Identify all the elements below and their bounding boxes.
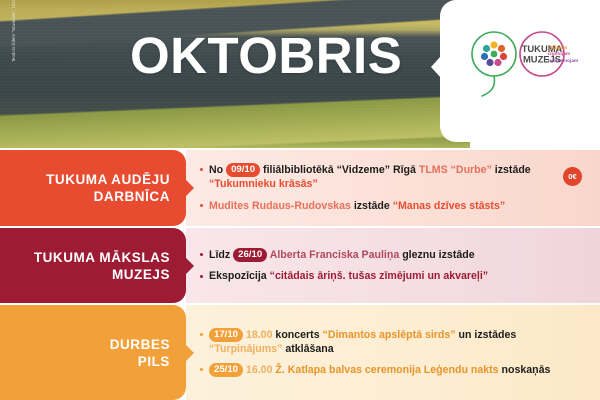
bullet-dot-icon <box>200 168 203 171</box>
page-title: OKTOBRIS <box>130 30 402 81</box>
list-item: No 09/10 filiālbibliotēkā “Vidzeme” Rīgā… <box>200 163 588 192</box>
event-conjunction: un izstādes <box>456 329 517 341</box>
section-label-line-1: TUKUMA AUDĒJU <box>46 171 170 188</box>
section-tukuma-makslas-muzejs: TUKUMA MĀKSLAS MUZEJS Līdz 26/10 Alberta… <box>0 228 600 303</box>
logo-panel: TUKUMA MUZEJS atklājam izglītojam iedves… <box>440 0 600 142</box>
list-item: 17/10 18.00 koncerts “Dimantos apslēptā … <box>200 328 588 357</box>
section-label-line-1: DURBES <box>110 336 170 353</box>
event-kind: izstāde <box>492 164 531 176</box>
logo-tagline: atklājam izglītojam iedvesmojam <box>548 45 578 64</box>
event-author: Mudītes Rudaus-Rudovskas <box>209 200 351 212</box>
section-label-line-1: TUKUMA MĀKSLAS <box>34 249 170 266</box>
poster-header: Teodors Ūders "Novakare", 1940. Tukuma m… <box>0 0 600 148</box>
section-label-tukuma-audeju-darbnica[interactable]: TUKUMA AUDĒJU DARBNĪCA <box>0 150 186 226</box>
event-title: “citādais āriņš. tušas zīmējumi un akvar… <box>270 270 488 282</box>
event-kind: koncerts <box>275 329 322 341</box>
section-label-line-2: DARBNĪCA <box>94 188 170 205</box>
list-item: 25/10 16.00 Ž. Katlapa balvas ceremonija… <box>200 363 588 377</box>
month-programme-poster: Teodors Ūders "Novakare", 1940. Tukuma m… <box>0 0 600 400</box>
event-kind: Ekspozīcija <box>209 270 270 282</box>
date-badge: 25/10 <box>209 363 243 377</box>
event-organiser: TLMS “Durbe” <box>419 164 492 176</box>
date-badge: 17/10 <box>209 328 243 342</box>
section-tukuma-audeju-darbnica: TUKUMA AUDĒJU DARBNĪCA No 09/10 filiālbi… <box>0 150 600 226</box>
event-venue: filiālbibliotēkā “Vidzeme” Rīgā <box>260 164 419 176</box>
event-text: Mudītes Rudaus-Rudovskas izstāde “Manas … <box>209 199 588 213</box>
event-prefix: No <box>209 164 226 176</box>
section-label-line-2: MUZEJS <box>112 266 170 283</box>
section-tab-notch <box>185 257 194 275</box>
event-kind: izstāde <box>351 200 393 212</box>
event-title: “Tukumnieku krāsās” <box>209 178 318 190</box>
list-item: Mudītes Rudaus-Rudovskas izstāde “Manas … <box>200 199 588 213</box>
event-text: Līdz 26/10 Alberta Franciska Pauliņa gle… <box>209 248 588 262</box>
section-label-durbes-pils[interactable]: DURBES PILS <box>0 305 186 400</box>
section-label-line-2: PILS <box>138 353 170 370</box>
price-badge: 0€ <box>563 167 582 186</box>
section-durbes-pils: DURBES PILS 17/10 18.00 koncerts “Dimant… <box>0 305 600 400</box>
event-kind: gleznu izstāde <box>399 249 474 261</box>
event-suffix: atklāšana <box>282 343 333 355</box>
event-title: “Dimantos apslēptā sirds” <box>323 329 456 341</box>
bullet-dot-icon <box>200 333 203 336</box>
event-text: 17/10 18.00 koncerts “Dimantos apslēptā … <box>209 328 588 357</box>
bullet-dot-icon <box>200 204 203 207</box>
event-suffix: noskaņās <box>499 364 551 376</box>
section-body-tukuma-audeju-darbnica: No 09/10 filiālbibliotēkā “Vidzeme” Rīgā… <box>186 150 600 226</box>
event-title: “Manas dzīves stāsts” <box>393 200 505 212</box>
section-body-tukuma-makslas-muzejs: Līdz 26/10 Alberta Franciska Pauliņa gle… <box>186 228 600 303</box>
section-tab-notch <box>185 179 194 197</box>
bullet-dot-icon <box>200 275 203 278</box>
list-item: Līdz 26/10 Alberta Franciska Pauliņa gle… <box>200 248 588 262</box>
list-item: Ekspozīcija “citādais āriņš. tušas zīmēj… <box>200 269 588 283</box>
logo-tagline-line-3: iedvesmojam <box>548 58 578 64</box>
event-time: 18.00 <box>243 329 275 341</box>
bullet-dot-icon <box>200 368 203 371</box>
section-label-tukuma-makslas-muzejs[interactable]: TUKUMA MĀKSLAS MUZEJS <box>0 228 186 303</box>
artwork-credit-text: Teodors Ūders "Novakare", 1940. Tukuma m… <box>11 0 16 62</box>
date-badge: 09/10 <box>226 163 260 177</box>
event-time: 16.00 <box>243 364 275 376</box>
event-title: Ž. Katlapa balvas ceremonija Leģendu nak… <box>275 364 498 376</box>
event-author: Alberta Franciska Pauliņa <box>267 249 399 261</box>
event-text: No 09/10 filiālbibliotēkā “Vidzeme” Rīgā… <box>209 163 588 192</box>
event-prefix: Līdz <box>209 249 233 261</box>
event-text: Ekspozīcija “citādais āriņš. tušas zīmēj… <box>209 269 588 283</box>
date-badge: 26/10 <box>233 248 267 262</box>
section-tab-notch <box>185 344 194 362</box>
bullet-dot-icon <box>200 253 203 256</box>
section-body-durbes-pils: 17/10 18.00 koncerts “Dimantos apslēptā … <box>186 305 600 400</box>
event-secondary-title: “Turpinājums” <box>209 343 282 355</box>
logo-panel-notch <box>431 56 441 78</box>
event-text: 25/10 16.00 Ž. Katlapa balvas ceremonija… <box>209 363 588 377</box>
